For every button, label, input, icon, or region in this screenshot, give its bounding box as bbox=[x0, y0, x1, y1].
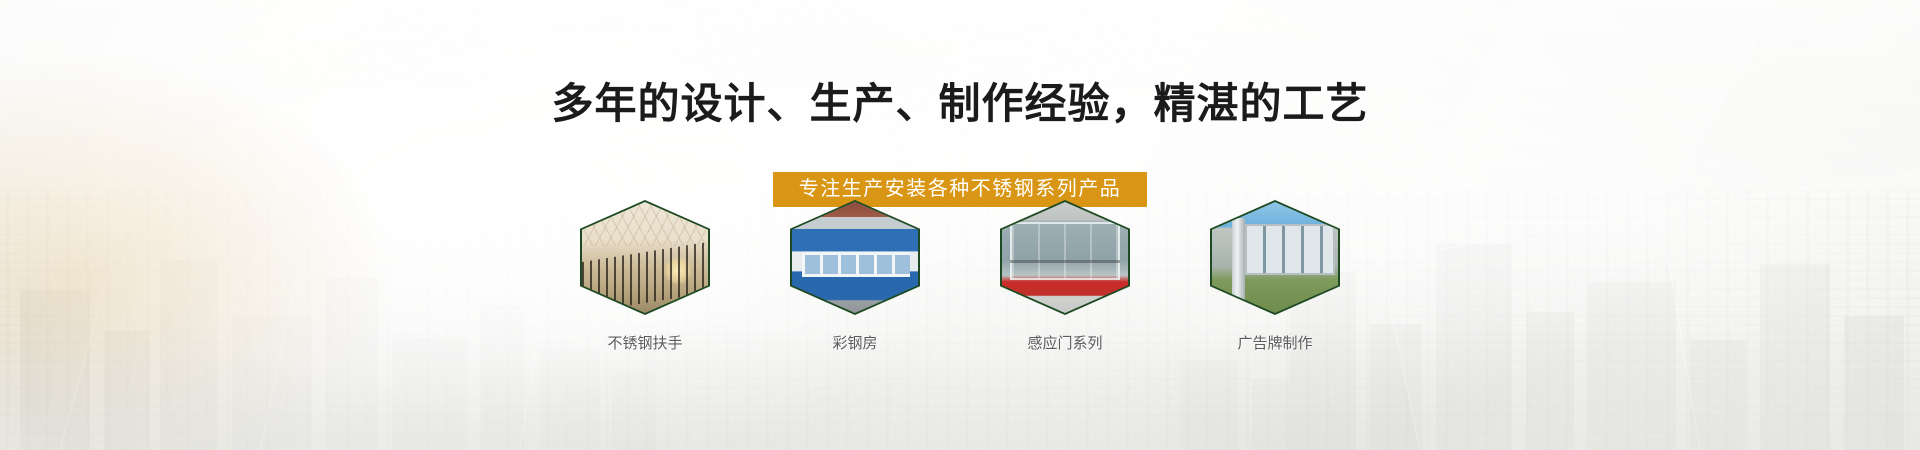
banner-headline: 多年的设计、生产、制作经验，精湛的工艺 bbox=[0, 78, 1920, 130]
product-item-sensor-door[interactable]: 感应门系列 bbox=[1000, 200, 1130, 354]
product-item-color-steel-cabin[interactable]: 彩钢房 bbox=[790, 200, 920, 354]
stainless-steel-handrail-photo bbox=[582, 202, 708, 313]
hexagon-image-clip bbox=[1002, 202, 1128, 313]
product-item-billboard[interactable]: 广告牌制作 bbox=[1210, 200, 1340, 354]
hexagon-frame bbox=[1210, 200, 1340, 315]
product-item-handrail[interactable]: 不锈钢扶手 bbox=[580, 200, 710, 354]
hexagon-frame bbox=[1000, 200, 1130, 315]
product-hexagon-row: 不锈钢扶手 彩钢房 感应门系列 广告牌制 bbox=[0, 200, 1920, 354]
hexagon-image-clip bbox=[1212, 202, 1338, 313]
product-label: 不锈钢扶手 bbox=[607, 334, 682, 354]
product-label: 广告牌制作 bbox=[1237, 334, 1312, 354]
product-label: 彩钢房 bbox=[832, 334, 877, 354]
billboard-production-photo bbox=[1212, 202, 1338, 313]
color-steel-cabin-photo bbox=[792, 202, 918, 313]
automatic-sensor-door-photo bbox=[1002, 202, 1128, 313]
hexagon-frame bbox=[790, 200, 920, 315]
hexagon-frame bbox=[580, 200, 710, 315]
hexagon-image-clip bbox=[582, 202, 708, 313]
hexagon-image-clip bbox=[792, 202, 918, 313]
product-label: 感应门系列 bbox=[1027, 334, 1102, 354]
promo-banner: 多年的设计、生产、制作经验，精湛的工艺 专注生产安装各种不锈钢系列产品 不锈钢扶… bbox=[0, 0, 1920, 450]
